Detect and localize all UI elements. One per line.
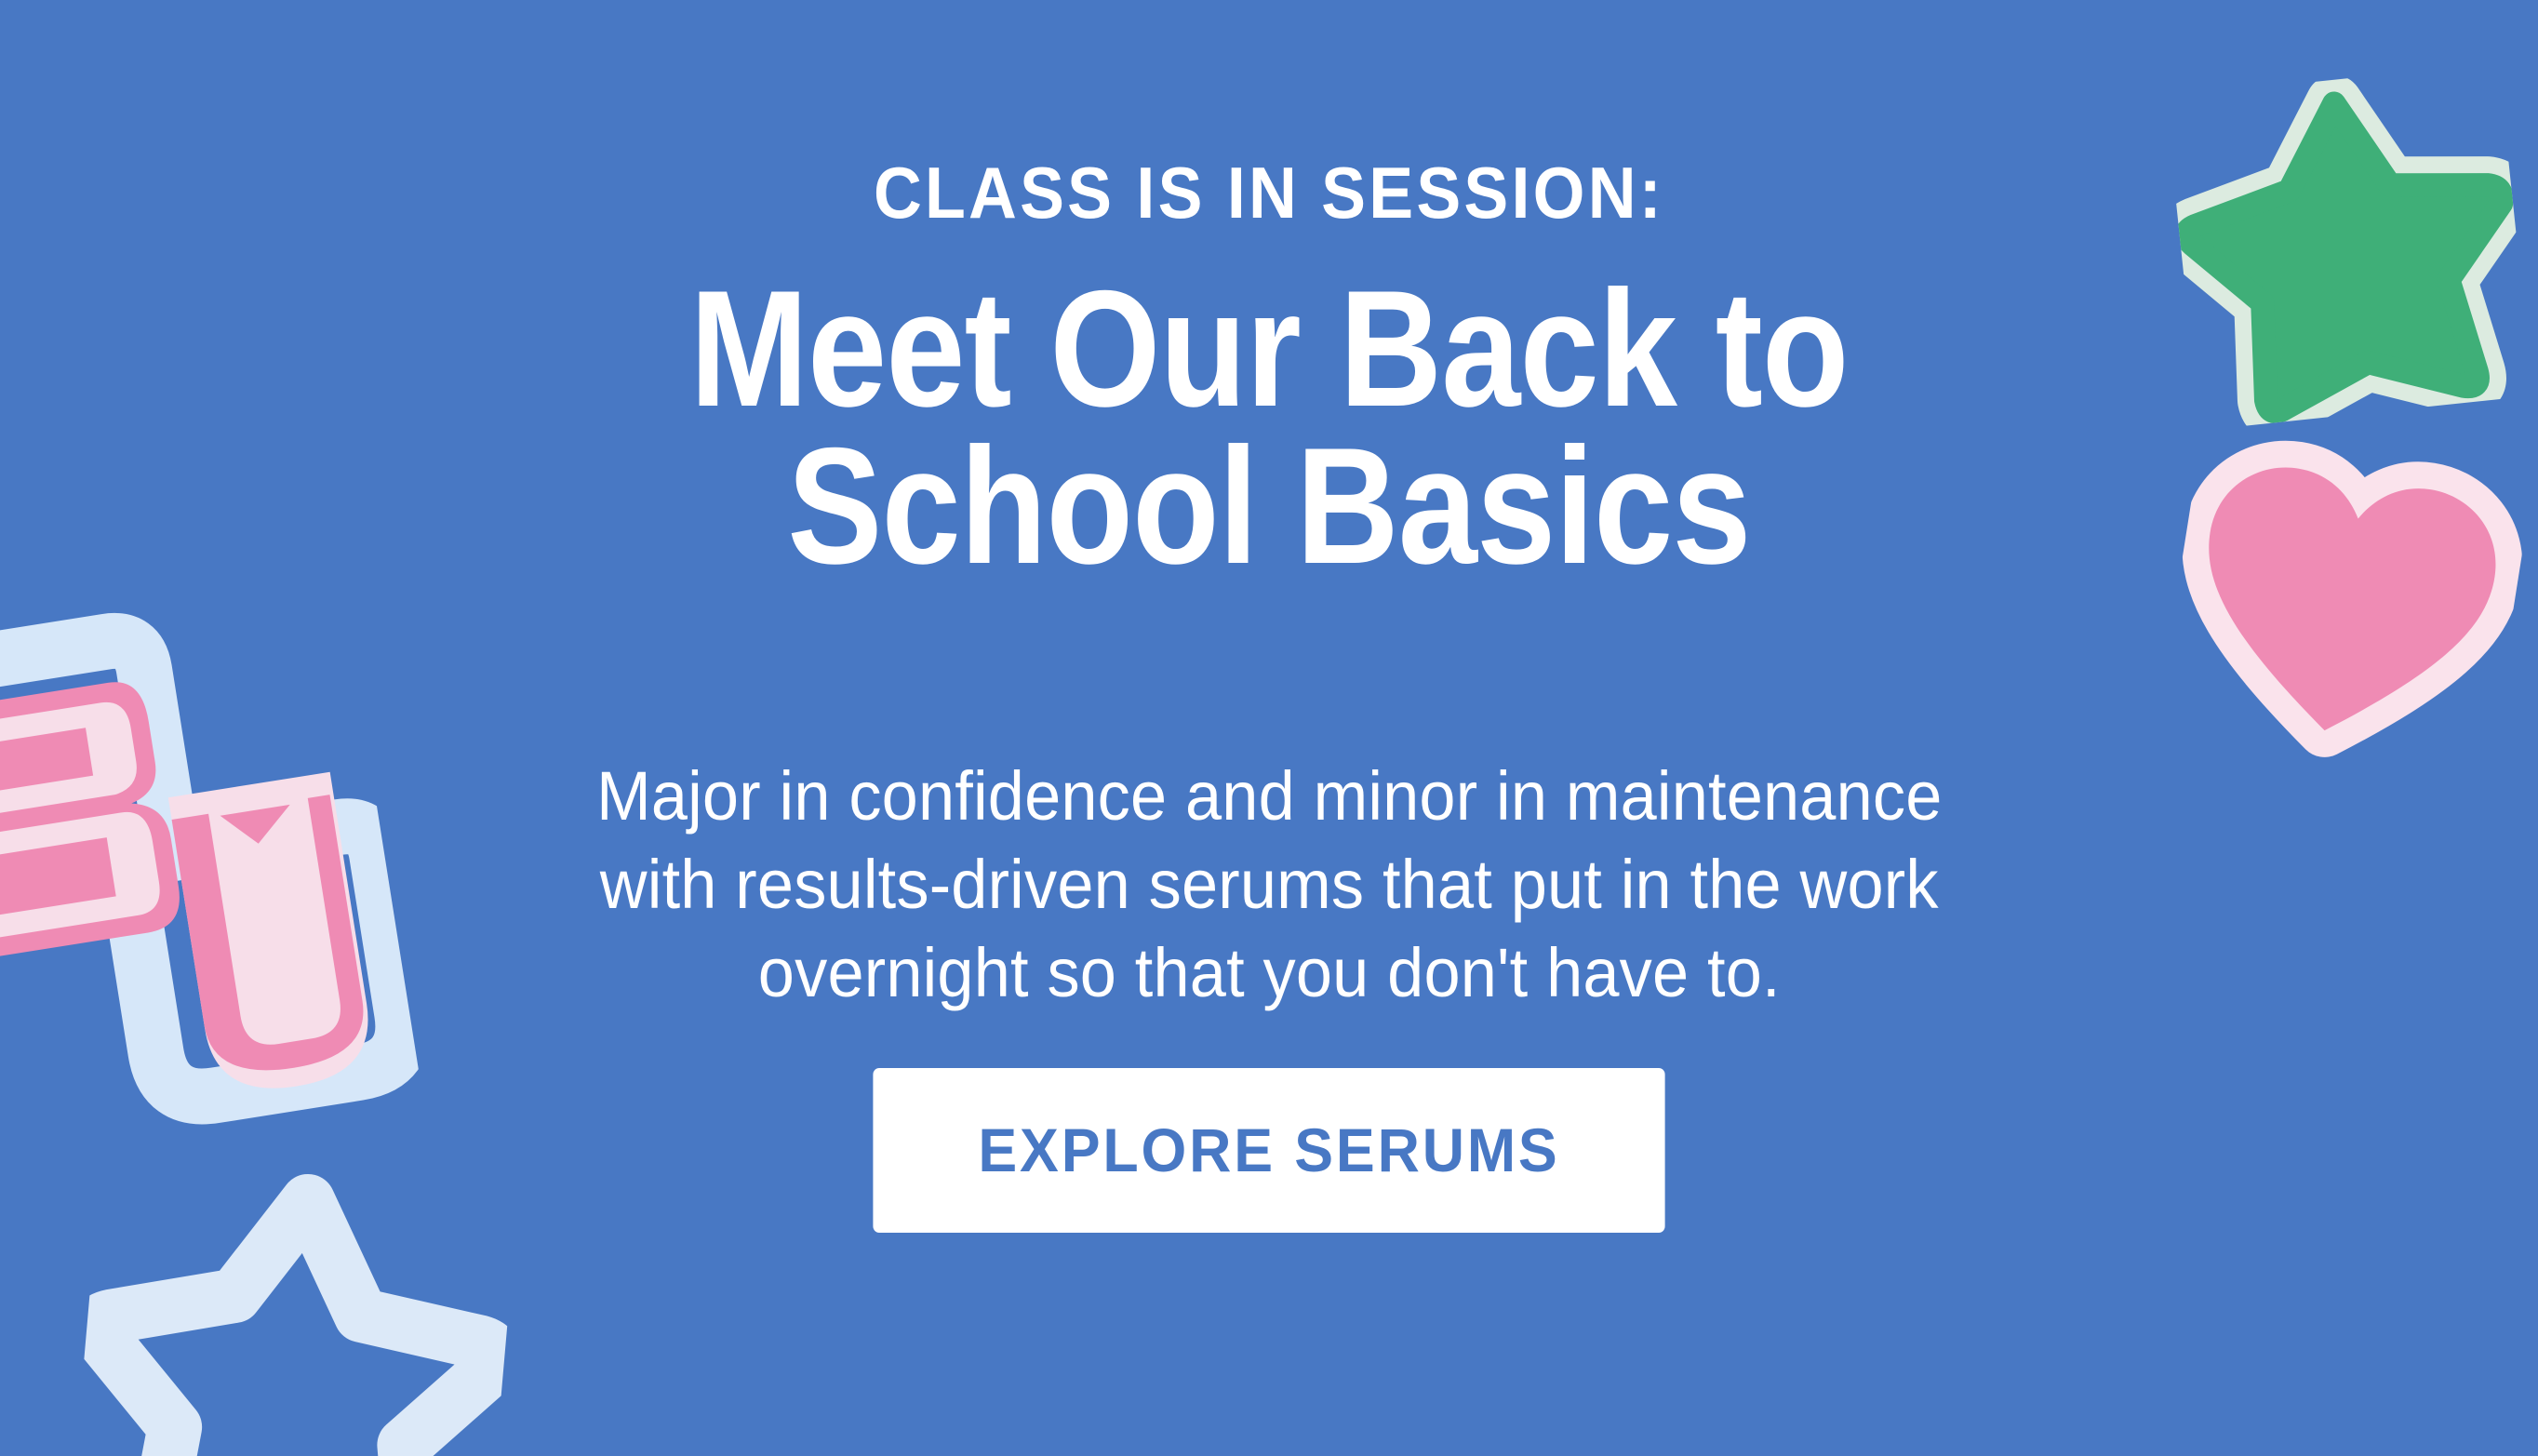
cta-container: EXPLORE SERUMS	[852, 1068, 1686, 1233]
body-line-3: overnight so that you don't have to.	[596, 929, 1942, 1018]
body-line-2: with results-driven serums that put in t…	[596, 841, 1942, 929]
eyebrow-text: CLASS IS IN SESSION:	[874, 156, 1664, 229]
explore-serums-button[interactable]: EXPLORE SERUMS	[873, 1068, 1664, 1233]
hero-content: CLASS IS IN SESSION: Meet Our Back to Sc…	[0, 0, 2538, 1456]
promo-banner: CLASS IS IN SESSION: Meet Our Back to Sc…	[0, 0, 2538, 1456]
body-copy: Major in confidence and minor in mainten…	[596, 753, 1942, 1017]
body-line-1: Major in confidence and minor in mainten…	[596, 753, 1942, 841]
headline-line-2: School Basics	[689, 427, 1848, 584]
page-title: Meet Our Back to School Basics	[689, 270, 1848, 584]
headline-line-1: Meet Our Back to	[689, 270, 1848, 427]
